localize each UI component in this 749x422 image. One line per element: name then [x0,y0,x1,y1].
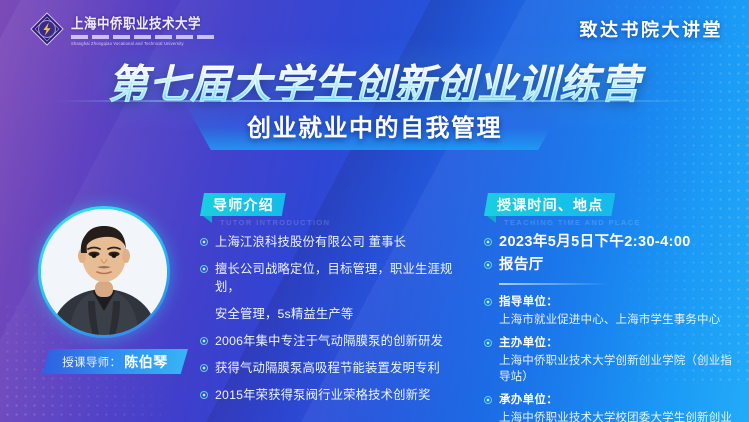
university-logo: 上海中侨职业技术大学 Shanghai Zhongqiao Vocational… [30,12,217,46]
tutor-introduction-section: 导师介绍 TUTOR INTRODUCTION 上海江浪科技股份有限公司 董事长… [200,193,462,413]
tutor-section-badge-en: TUTOR INTRODUCTION [220,218,330,227]
list-item: 报告厅 [484,256,739,274]
organizer-role: 主办单位： [499,334,739,350]
tutor-bullet-list: 上海江浪科技股份有限公司 董事长 擅长公司战略定位，目标管理，职业生涯规划， 安… [200,233,462,404]
badge-tail [487,216,496,223]
list-item-continuation: 安全管理，5s精益生产等 [200,305,462,323]
lecture-datetime: 2023年5月5日下午2:30-4:00 [499,233,691,251]
university-crest-icon [30,12,64,46]
bullet-icon [484,339,492,347]
bullet-icon [484,298,492,306]
bullet-icon [484,261,492,269]
instructor-label: 授课导师： [62,354,121,370]
badge-tail [203,216,212,223]
organizer-name: 上海中侨职业技术大学校团委大学生创新创业中心 [499,409,739,422]
time-section-badge: 授课时间、地点 [484,193,615,216]
list-item: 获得气动隔膜泵高吸程节能装置发明专利 [200,359,462,377]
organizer-list: 指导单位： 上海市就业促进中心、上海市学生事务中心 主办单位： 上海中侨职业技术… [484,293,739,422]
section-divider [499,283,609,285]
university-name-en: Shanghai Zhongqiao Vocational and Techni… [71,41,217,46]
list-item-text: 安全管理，5s精益生产等 [215,305,353,323]
time-badge-wrap: 授课时间、地点 TEACHING TIME AND PLACE [484,193,615,216]
organizer-name: 上海中侨职业技术大学创新创业学院（创业指导站） [499,352,739,384]
bullet-icon [484,396,492,404]
list-item-text: 2006年集中专注于气动隔膜泵的创新研发 [215,332,443,350]
poster-root: 上海中侨职业技术大学 Shanghai Zhongqiao Vocational… [0,0,749,422]
list-item: 2015年荣获得泵阀行业荣格技术创新奖 [200,386,462,404]
list-item: 承办单位： 上海中侨职业技术大学校团委大学生创新创业中心 [484,391,739,422]
bullet-icon [200,337,208,345]
bullet-icon [200,364,208,372]
logo-divider [71,35,217,39]
organizer-name: 上海市就业促进中心、上海市学生事务中心 [499,311,720,327]
bullet-icon [484,238,492,246]
time-place-section: 授课时间、地点 TEACHING TIME AND PLACE 2023年5月5… [484,193,739,422]
list-item: 擅长公司战略定位，目标管理，职业生涯规划， [200,260,462,296]
list-item: 2023年5月5日下午2:30-4:00 [484,233,739,251]
instructor-name: 陈伯琴 [124,352,168,372]
list-item: 主办单位： 上海中侨职业技术大学创新创业学院（创业指导站） [484,334,739,384]
bullet-icon [200,265,208,273]
tutor-section-badge: 导师介绍 [200,193,286,216]
lecture-venue: 报告厅 [499,256,544,274]
list-item-text: 获得气动隔膜泵高吸程节能装置发明专利 [215,359,440,377]
list-item: 上海江浪科技股份有限公司 董事长 [200,233,462,251]
list-item: 指导单位： 上海市就业促进中心、上海市学生事务中心 [484,293,739,327]
organizer-role: 承办单位： [499,391,739,407]
subtitle: 创业就业中的自我管理 [0,108,749,143]
lecture-series-brand: 致达书院大讲堂 [580,16,724,42]
university-name-cn: 上海中侨职业技术大学 [71,11,217,32]
instructor-photo [41,209,167,335]
instructor-name-plate: 授课导师： 陈伯琴 [42,349,188,374]
list-item-text: 擅长公司战略定位，目标管理，职业生涯规划， [215,260,462,296]
time-section-badge-en: TEACHING TIME AND PLACE [504,218,641,227]
organizer-role: 指导单位： [499,293,720,309]
list-item: 2006年集中专注于气动隔膜泵的创新研发 [200,332,462,350]
bullet-icon [200,391,208,399]
university-logo-text: 上海中侨职业技术大学 Shanghai Zhongqiao Vocational… [71,13,217,46]
list-item-text: 2015年荣获得泵阀行业荣格技术创新奖 [215,386,431,404]
tutor-badge-wrap: 导师介绍 TUTOR INTRODUCTION [200,193,286,216]
list-item-text: 上海江浪科技股份有限公司 董事长 [215,233,406,251]
bullet-icon [200,238,208,246]
time-list: 2023年5月5日下午2:30-4:00 报告厅 [484,233,739,274]
instructor-photo-frame [38,206,170,338]
